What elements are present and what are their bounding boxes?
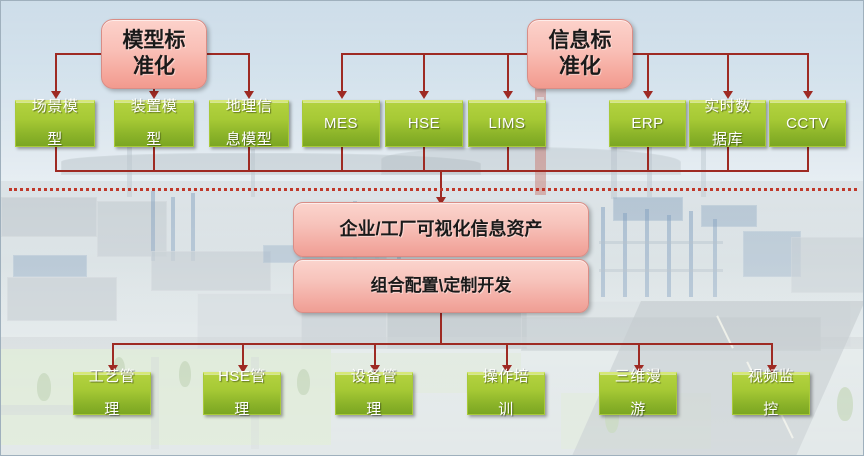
connector-app-drop-roaming <box>638 343 640 367</box>
connector-app-drop-equipment <box>374 343 376 367</box>
connector-info-drop-cctv <box>807 53 809 91</box>
connector-app-drop-hse <box>242 343 244 367</box>
node-label: 模型标准化 <box>123 28 186 81</box>
node-label: 工艺管理 <box>76 369 148 419</box>
connector-source-riser-hse <box>423 147 425 172</box>
node-label: MES <box>305 116 377 133</box>
connector-source-riser-mes <box>341 147 343 172</box>
connector-source-riser-scene <box>55 147 57 172</box>
connector-info-bus-left <box>341 53 529 55</box>
node-label: 装置模型 <box>117 99 191 149</box>
connector-app-drop-video <box>771 343 773 367</box>
connector-app-drop-training <box>506 343 508 367</box>
diagram-canvas: 模型标准化 信息标准化 场景模型 装置模型 地理信息模型 MES HSE LIM… <box>0 0 864 456</box>
connector-model-drop-right <box>248 53 250 91</box>
connector-model-bus <box>205 53 249 55</box>
connector-source-riser-realtimedb <box>727 147 729 172</box>
node-realtime-database[interactable]: 实时数据库 <box>689 100 766 147</box>
node-equipment-management[interactable]: 设备管理 <box>335 372 413 415</box>
node-configuration-development[interactable]: 组合配置\定制开发 <box>293 259 589 313</box>
arrow-to-hse <box>419 91 429 99</box>
node-erp[interactable]: ERP <box>609 100 686 147</box>
connector-model-drop-left <box>55 53 57 91</box>
node-operation-training[interactable]: 操作培训 <box>467 372 545 415</box>
node-lims[interactable]: LIMS <box>468 100 546 147</box>
arrow-to-erp <box>643 91 653 99</box>
node-device-model[interactable]: 装置模型 <box>114 100 194 147</box>
node-label: 场景模型 <box>18 99 92 149</box>
node-label: 信息标准化 <box>549 28 612 81</box>
node-label: 组合配置\定制开发 <box>371 275 512 296</box>
connector-info-drop-realtimedb <box>727 53 729 91</box>
node-3d-roaming[interactable]: 三维漫游 <box>599 372 677 415</box>
node-gis-model[interactable]: 地理信息模型 <box>209 100 289 147</box>
node-label: 操作培训 <box>470 369 542 419</box>
connector-info-drop-lims <box>507 53 509 91</box>
node-hse-management[interactable]: HSE管理 <box>203 372 281 415</box>
node-process-management[interactable]: 工艺管理 <box>73 372 151 415</box>
connector-core-to-apps-stem <box>440 313 442 344</box>
node-label: 三维漫游 <box>602 369 674 419</box>
node-cctv[interactable]: CCTV <box>769 100 846 147</box>
node-video-surveillance[interactable]: 视频监控 <box>732 372 810 415</box>
node-model-standardization[interactable]: 模型标准化 <box>101 19 207 89</box>
connector-source-riser-erp <box>647 147 649 172</box>
node-scene-model[interactable]: 场景模型 <box>15 100 95 147</box>
connector-source-riser-device <box>153 147 155 172</box>
connector-app-drop-process <box>112 343 114 367</box>
connector-info-drop-erp <box>647 53 649 91</box>
node-label: 设备管理 <box>338 369 410 419</box>
layer-divider-dotted-line <box>9 188 857 191</box>
node-label: HSE <box>388 116 460 133</box>
connector-source-riser-lims <box>507 147 509 172</box>
node-label: 视频监控 <box>735 369 807 419</box>
node-label: ERP <box>612 116 683 133</box>
connector-info-drop-mes <box>341 53 343 91</box>
connector-info-bus-right <box>629 53 807 55</box>
node-info-standardization[interactable]: 信息标准化 <box>527 19 633 89</box>
arrow-to-cctv <box>803 91 813 99</box>
node-hse-system[interactable]: HSE <box>385 100 463 147</box>
node-visual-information-asset[interactable]: 企业/工厂可视化信息资产 <box>293 202 589 257</box>
node-label: 地理信息模型 <box>212 99 286 149</box>
node-label: 企业/工厂可视化信息资产 <box>340 218 543 241</box>
connector-source-riser-cctv <box>807 147 809 172</box>
arrow-to-lims <box>503 91 513 99</box>
connector-info-drop-hse <box>423 53 425 91</box>
node-label: CCTV <box>772 116 843 133</box>
connector-apps-distribution-bar <box>112 343 772 345</box>
arrow-to-mes <box>337 91 347 99</box>
node-label: LIMS <box>471 116 543 133</box>
node-mes[interactable]: MES <box>302 100 380 147</box>
connector-source-collector-bar <box>55 170 809 172</box>
connector-source-riser-gis <box>248 147 250 172</box>
node-label: 实时数据库 <box>692 99 763 149</box>
node-label: HSE管理 <box>206 369 278 419</box>
